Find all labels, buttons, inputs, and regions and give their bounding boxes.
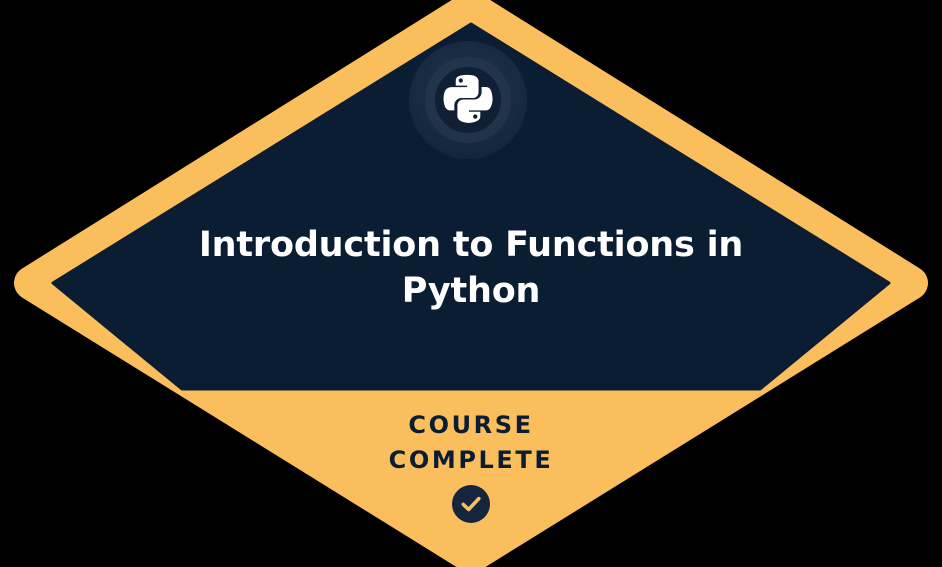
emblem-rings: [409, 41, 527, 159]
course-completion-badge: Introduction to Functions in Python COUR…: [0, 0, 942, 567]
badge-shape: [0, 0, 942, 567]
